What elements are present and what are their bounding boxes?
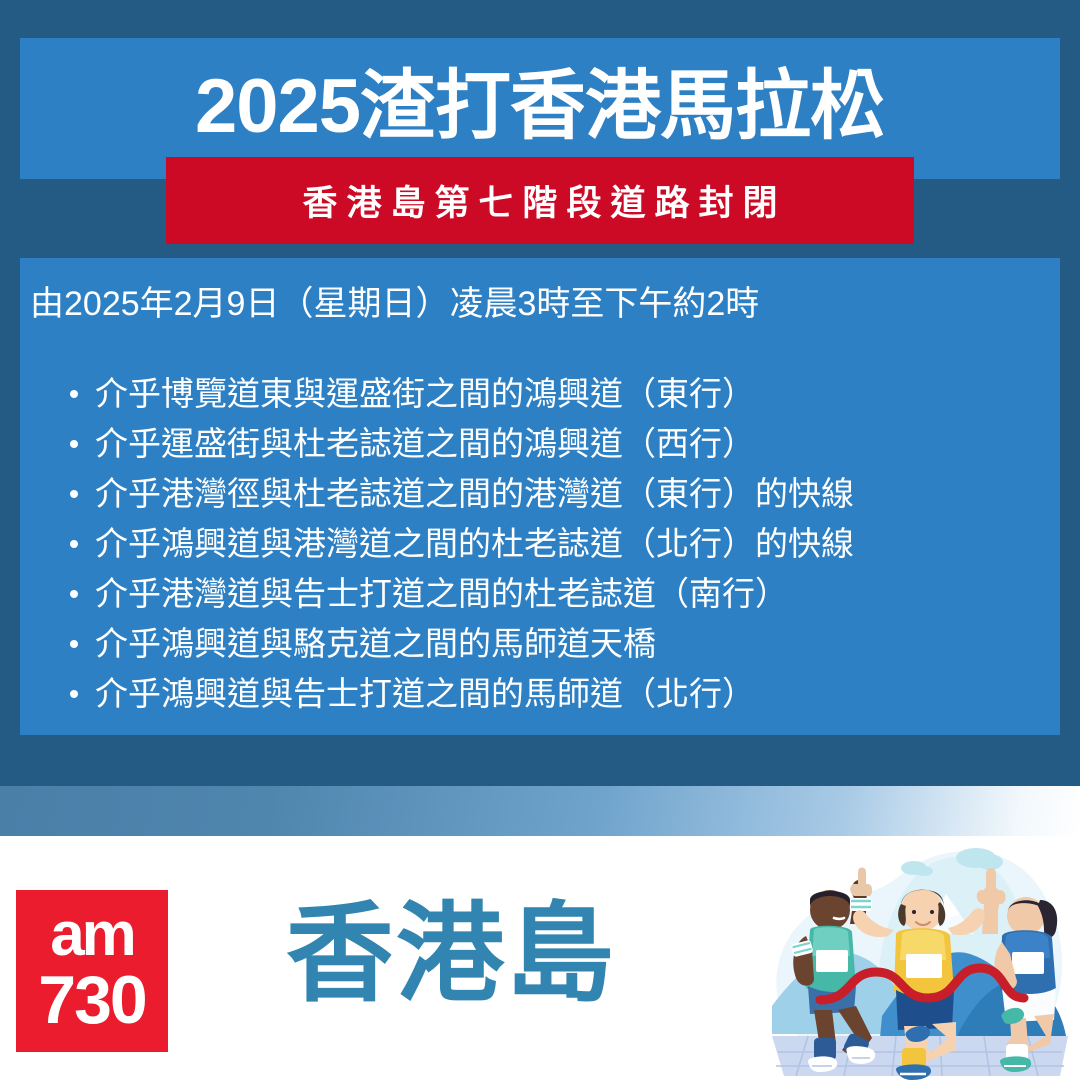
- closure-period-text: 由2025年2月9日（星期日）凌晨3時至下午約2時: [20, 276, 1060, 325]
- list-item-label: 介乎港灣道與告士打道之間的杜老誌道（南行）: [95, 575, 788, 612]
- subtitle-banner-text: 香港島第七階段道路封閉: [293, 175, 786, 226]
- poster-root: 2025渣打香港馬拉松 香港島第七階段道路封閉 由2025年2月9日（星期日）凌…: [0, 0, 1080, 1080]
- bullet-icon: [70, 640, 78, 648]
- footer: am 730 香港島: [0, 836, 1080, 1080]
- list-item: 介乎運盛街與杜老誌道之間的鴻興道（西行）: [20, 419, 1060, 469]
- list-item-label: 介乎港灣徑與杜老誌道之間的港灣道（東行）的快線: [95, 475, 854, 512]
- list-item-label: 介乎鴻興道與駱克道之間的馬師道天橋: [95, 625, 656, 662]
- runners-illustration: [762, 838, 1080, 1080]
- bullet-icon: [70, 440, 78, 448]
- list-item: 介乎鴻興道與告士打道之間的馬師道（北行）: [20, 669, 1060, 719]
- list-item-label: 介乎鴻興道與港灣道之間的杜老誌道（北行）的快線: [95, 525, 854, 562]
- bullet-icon: [70, 590, 78, 598]
- am730-logo: am 730: [16, 890, 168, 1052]
- road-closure-list: 介乎博覽道東與運盛街之間的鴻興道（東行） 介乎運盛街與杜老誌道之間的鴻興道（西行…: [20, 325, 1060, 719]
- bullet-icon: [70, 390, 78, 398]
- gradient-divider: [0, 786, 1080, 836]
- list-item: 介乎鴻興道與駱克道之間的馬師道天橋: [20, 619, 1060, 669]
- content-panel: 由2025年2月9日（星期日）凌晨3時至下午約2時 介乎博覽道東與運盛街之間的鴻…: [20, 258, 1060, 735]
- list-item-label: 介乎運盛街與杜老誌道之間的鴻興道（西行）: [95, 425, 755, 462]
- logo-number-text: 730: [38, 966, 145, 1034]
- list-item: 介乎港灣道與告士打道之間的杜老誌道（南行）: [20, 569, 1060, 619]
- list-item: 介乎博覽道東與運盛街之間的鴻興道（東行）: [20, 369, 1060, 419]
- list-item: 介乎鴻興道與港灣道之間的杜老誌道（北行）的快線: [20, 519, 1060, 569]
- bullet-icon: [70, 540, 78, 548]
- bullet-icon: [70, 490, 78, 498]
- list-item-label: 介乎博覽道東與運盛街之間的鴻興道（東行）: [95, 375, 755, 412]
- list-item: 介乎港灣徑與杜老誌道之間的港灣道（東行）的快線: [20, 469, 1060, 519]
- logo-brand-text: am: [50, 904, 134, 966]
- list-item-label: 介乎鴻興道與告士打道之間的馬師道（北行）: [95, 675, 755, 712]
- district-label: 香港島: [286, 900, 616, 1008]
- bullet-icon: [70, 690, 78, 698]
- subtitle-banner: 香港島第七階段道路封閉: [166, 157, 914, 244]
